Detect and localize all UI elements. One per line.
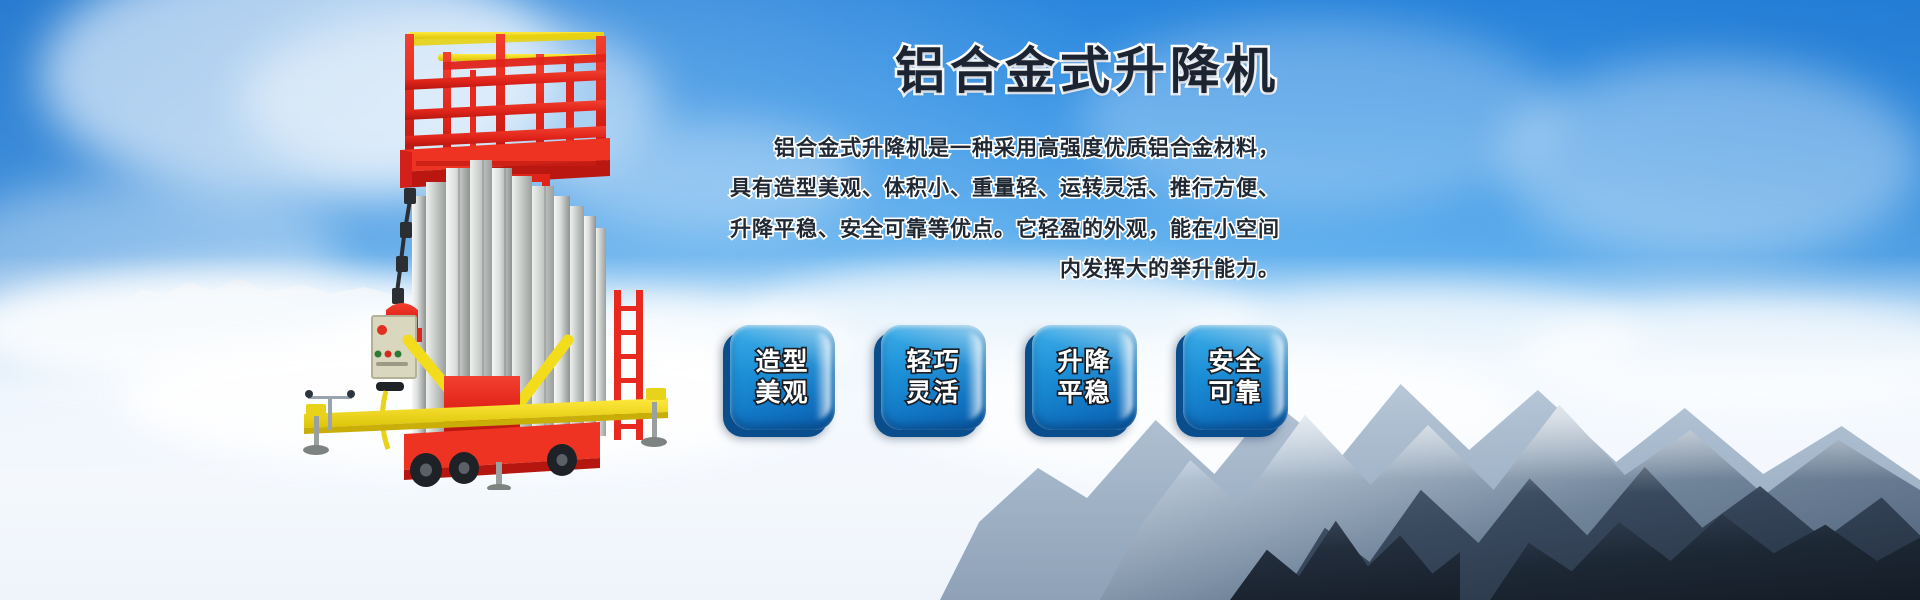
banner-text-column: 铝合金式升降机 铝合金式升降机是一种采用高强度优质铝合金材料， 具有造型美观、体… xyxy=(700,44,1280,290)
platform-deck-line xyxy=(416,161,596,166)
badge-line-2: 灵活 xyxy=(906,378,960,409)
lift-cable xyxy=(396,200,410,300)
outrigger-foot xyxy=(641,437,667,447)
centre-jack-foot xyxy=(487,484,511,490)
badge-line-2: 可靠 xyxy=(1208,378,1262,409)
promo-banner: 铝合金式升降机 铝合金式升降机是一种采用高强度优质铝合金材料， 具有造型美观、体… xyxy=(0,0,1920,600)
feature-badge-label: 升降 平稳 xyxy=(1057,347,1111,408)
feature-badge-smooth-lifting[interactable]: 升降 平稳 xyxy=(1032,325,1137,430)
guardrail-rail xyxy=(405,70,606,90)
outrigger-leg xyxy=(652,402,657,440)
mast-column-back xyxy=(532,186,554,436)
distant-signpost xyxy=(300,382,360,432)
mast-seam xyxy=(544,186,546,436)
description-line-4: 内发挥大的举升能力。 xyxy=(700,250,1280,290)
feature-badge-label: 安全 可靠 xyxy=(1208,347,1262,408)
description-line-2: 具有造型美观、体积小、重量轻、运转灵活、推行方便、 xyxy=(700,169,1280,209)
mast-column-back xyxy=(554,196,570,436)
control-button-green xyxy=(375,351,382,358)
platform-deck-side xyxy=(400,150,412,188)
control-button-red xyxy=(385,351,392,358)
mast-column-back xyxy=(570,206,584,436)
guardrail-rail xyxy=(405,100,606,120)
feature-badge-list: 造型 美观 轻巧 灵活 升降 平稳 安全 可靠 xyxy=(730,325,1288,430)
outrigger-foot xyxy=(303,445,329,455)
description-line-1: 铝合金式升降机是一种采用高强度优质铝合金材料， xyxy=(700,129,1280,169)
control-handle xyxy=(376,382,404,391)
badge-line-1: 造型 xyxy=(755,347,809,378)
control-box-label xyxy=(376,362,408,366)
feature-badge-label: 造型 美观 xyxy=(755,347,809,408)
wheel-hub xyxy=(459,462,470,474)
description-line-3: 升降平稳、安全可靠等优点。它轻盈的外观，能在小空间 xyxy=(700,210,1280,250)
cloud-puff xyxy=(1500,60,1920,260)
feature-badge-appearance[interactable]: 造型 美观 xyxy=(730,325,835,430)
wheel-hub xyxy=(420,464,432,477)
emergency-stop-button xyxy=(377,325,387,335)
badge-line-1: 安全 xyxy=(1208,347,1262,378)
page-title: 铝合金式升降机 xyxy=(700,44,1280,99)
control-button-green xyxy=(395,351,402,358)
outrigger-bracket xyxy=(646,388,666,400)
feature-badge-label: 轻巧 灵活 xyxy=(906,347,960,408)
badge-line-2: 美观 xyxy=(755,378,809,409)
badge-line-1: 轻巧 xyxy=(906,347,960,378)
badge-line-1: 升降 xyxy=(1057,347,1111,378)
product-description: 铝合金式升降机是一种采用高强度优质铝合金材料， 具有造型美观、体积小、重量轻、运… xyxy=(700,129,1280,290)
feature-badge-safety[interactable]: 安全 可靠 xyxy=(1183,325,1288,430)
mast-column-front xyxy=(426,182,446,436)
wheel-hub xyxy=(557,454,568,466)
badge-line-2: 平稳 xyxy=(1057,378,1111,409)
feature-badge-lightweight[interactable]: 轻巧 灵活 xyxy=(881,325,986,430)
